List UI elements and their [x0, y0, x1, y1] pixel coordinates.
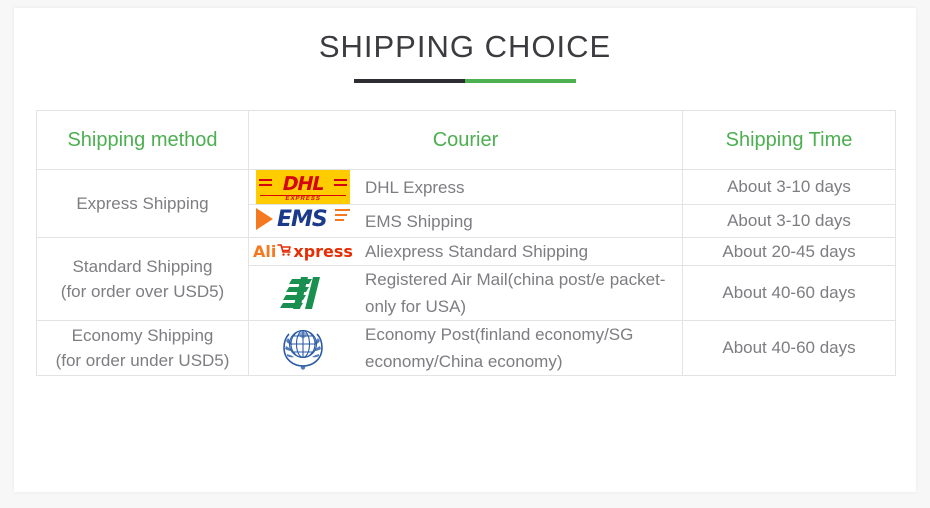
underline-dark-segment	[354, 79, 465, 83]
courier-label: Aliexpress Standard Shipping	[357, 238, 588, 265]
courier-label: EMS Shipping	[357, 208, 473, 235]
method-label-line1: Standard Shipping	[37, 254, 248, 279]
time-cell: About 3-10 days	[683, 205, 896, 238]
table-row: Economy Shipping (for order under USD5)	[37, 321, 896, 376]
method-label-line2: (for order over USD5)	[37, 279, 248, 304]
china-post-logo	[278, 271, 328, 315]
method-label-line1: Economy Shipping	[37, 323, 248, 348]
courier-cell-ems: EMS EMS Shipping	[249, 205, 683, 238]
table-header-row: Shipping method Courier Shipping Time	[37, 111, 896, 170]
time-cell: About 40-60 days	[683, 266, 896, 321]
courier-cell-china-post: Registered Air Mail(china post/e packet-…	[249, 266, 683, 321]
united-nations-logo	[276, 321, 330, 375]
logo-slot	[249, 321, 357, 375]
courier-cell-aliexpress: Ali xpress	[249, 238, 683, 266]
aliexpress-logo-part1: Ali	[253, 242, 276, 261]
courier-cell-dhl: DHL EXPRESS DHL Express	[249, 170, 683, 205]
table-header: Shipping method Courier Shipping Time	[37, 111, 896, 170]
page-title: SHIPPING CHOICE	[14, 30, 916, 64]
dhl-logo-text: DHL	[280, 173, 325, 195]
dhl-logo: DHL EXPRESS	[256, 170, 350, 204]
title-block: SHIPPING CHOICE	[14, 8, 916, 83]
method-cell-standard: Standard Shipping (for order over USD5)	[37, 238, 249, 321]
courier-label: DHL Express	[357, 174, 465, 201]
method-label-line2: (for order under USD5)	[37, 348, 248, 373]
ems-triangle-mark	[256, 208, 273, 230]
aliexpress-logo-part2: xpress	[293, 242, 353, 261]
shopping-cart-icon	[277, 242, 292, 261]
ems-logo-text: EMS	[277, 207, 327, 232]
time-cell: About 20-45 days	[683, 238, 896, 266]
header-shipping-time: Shipping Time	[683, 111, 896, 170]
method-cell-express: Express Shipping	[37, 170, 249, 238]
logo-slot	[249, 271, 357, 315]
title-underline	[354, 79, 576, 83]
ems-bars-mark	[335, 209, 350, 224]
courier-cell-economy-post: Economy Post(finland economy/SG economy/…	[249, 321, 683, 376]
header-courier: Courier	[249, 111, 683, 170]
shipping-table: Shipping method Courier Shipping Time Ex…	[36, 110, 896, 376]
dhl-logo-subtext: EXPRESS	[285, 196, 322, 202]
logo-slot: Ali xpress	[249, 242, 357, 261]
time-cell: About 3-10 days	[683, 170, 896, 205]
underline-green-segment	[465, 79, 576, 83]
courier-label: Registered Air Mail(china post/e packet-…	[357, 266, 682, 320]
table-row: Express Shipping DHL EXPRESS	[37, 170, 896, 205]
shipping-choice-card: SHIPPING CHOICE Shipping method Courier …	[14, 8, 916, 492]
time-cell: About 40-60 days	[683, 321, 896, 376]
dhl-speedline-right	[334, 179, 347, 181]
table-body: Express Shipping DHL EXPRESS	[37, 170, 896, 376]
table-row: Standard Shipping (for order over USD5) …	[37, 238, 896, 266]
aliexpress-logo: Ali xpress	[253, 242, 353, 261]
dhl-speedline-left	[259, 179, 272, 181]
ems-logo: EMS	[255, 205, 351, 237]
header-shipping-method: Shipping method	[37, 111, 249, 170]
logo-slot: DHL EXPRESS	[249, 170, 357, 204]
courier-label: Economy Post(finland economy/SG economy/…	[357, 321, 682, 375]
method-cell-economy: Economy Shipping (for order under USD5)	[37, 321, 249, 376]
logo-slot: EMS	[249, 205, 357, 237]
